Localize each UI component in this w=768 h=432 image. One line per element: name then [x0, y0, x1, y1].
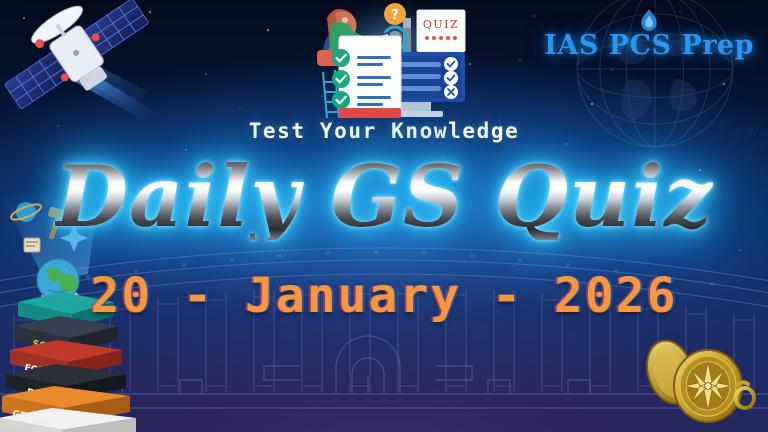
satellite-illustration — [0, 0, 161, 122]
quiz-card: QUIZ — [417, 10, 465, 52]
checklist-marks — [332, 49, 350, 109]
page-title: Daily GS Quiz — [0, 154, 768, 264]
brand-logo-text: IAS PCS Prep — [544, 30, 754, 61]
svg-text:QUIZ: QUIZ — [423, 18, 459, 31]
monitor-marks — [444, 57, 458, 99]
brand-logo[interactable]: IAS PCS Prep — [544, 8, 754, 61]
date-text: 20 - January - 2026 — [0, 268, 768, 324]
page-title-text: Daily GS Quiz — [55, 154, 713, 240]
question-mark-badge-icon: ? — [384, 3, 406, 25]
quiz-scene-illustration: ? QUIZ — [305, 0, 485, 120]
svg-text:?: ? — [391, 8, 399, 23]
checklist-sheet — [332, 36, 401, 118]
subtitle-text: Test Your Knowledge — [0, 119, 768, 143]
quiz-poster: IAS PCS Prep — [0, 0, 768, 432]
brass-compass-illustration — [640, 328, 762, 428]
